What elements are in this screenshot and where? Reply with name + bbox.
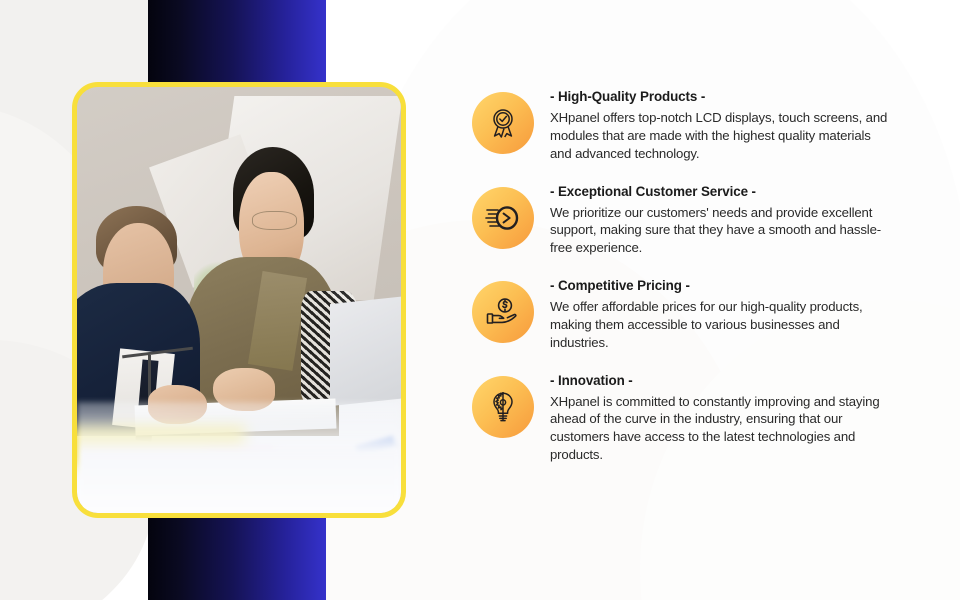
feature-item-competitive-pricing: - Competitive Pricing - We offer afforda…	[472, 277, 912, 352]
feature-text-block: - Exceptional Customer Service - We prio…	[550, 183, 884, 258]
feature-body: XHpanel is committed to constantly impro…	[550, 393, 884, 464]
photo-foreground-blur	[77, 402, 401, 513]
feature-body: XHpanel offers top-notch LCD displays, t…	[550, 109, 890, 162]
feature-item-innovation: - Innovation - XHpanel is committed to c…	[472, 372, 912, 464]
photo-woman-glasses	[252, 211, 297, 230]
award-ribbon-check-icon	[472, 92, 534, 154]
fast-forward-speed-icon	[472, 187, 534, 249]
feature-body: We prioritize our customers' needs and p…	[550, 204, 884, 257]
office-photo	[77, 87, 401, 513]
feature-title: - High-Quality Products -	[550, 89, 890, 105]
feature-item-high-quality-products: - High-Quality Products - XHpanel offers…	[472, 88, 912, 163]
feature-text-block: - Innovation - XHpanel is committed to c…	[550, 372, 884, 464]
photo-card	[72, 82, 406, 518]
slide-canvas: - High-Quality Products - XHpanel offers…	[0, 0, 960, 600]
feature-list: - High-Quality Products - XHpanel offers…	[472, 88, 912, 464]
feature-item-exceptional-customer-service: - Exceptional Customer Service - We prio…	[472, 183, 912, 258]
feature-title: - Innovation -	[550, 373, 884, 389]
lightbulb-gear-innovation-icon	[472, 376, 534, 438]
hand-holding-dollar-coin-icon	[472, 281, 534, 343]
photo-laptop	[330, 296, 401, 406]
feature-title: - Competitive Pricing -	[550, 278, 884, 294]
feature-title: - Exceptional Customer Service -	[550, 184, 884, 200]
feature-body: We offer affordable prices for our high-…	[550, 298, 884, 351]
feature-text-block: - High-Quality Products - XHpanel offers…	[550, 88, 890, 163]
feature-text-block: - Competitive Pricing - We offer afforda…	[550, 277, 884, 352]
